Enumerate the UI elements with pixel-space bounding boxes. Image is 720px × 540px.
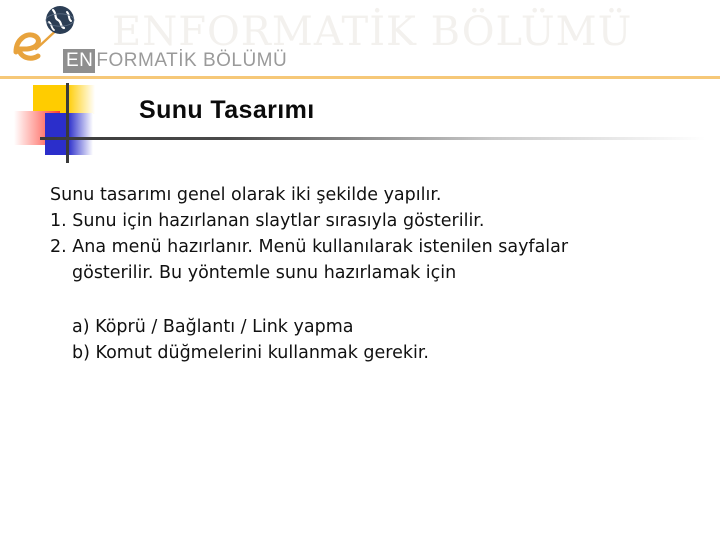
slide-body: Sunu tasarımı genel olarak iki şekilde y… — [50, 182, 690, 366]
body-line: 2. Ana menü hazırlanır. Menü kullanılara… — [50, 234, 690, 260]
header-divider-rule — [0, 76, 720, 79]
department-name-rest: FORMATİK BÖLÜMÜ — [95, 50, 287, 72]
globe-icon — [46, 6, 74, 34]
slide-canvas: ENFORMATİK BÖLÜMÜ ENFORMATİK BÖL — [0, 0, 720, 540]
slide-header: ENFORMATİK BÖLÜMÜ ENFORMATİK BÖL — [0, 0, 720, 78]
body-sub-line: b) Komut düğmelerini kullanmak gerekir. — [50, 340, 690, 366]
body-line: 1. Sunu için hazırlanan slaytlar sırasıy… — [50, 208, 690, 234]
deco-blue-square — [45, 113, 93, 155]
body-line: Sunu tasarımı genel olarak iki şekilde y… — [50, 182, 690, 208]
department-badge: EN — [63, 49, 95, 73]
deco-vertical-line — [66, 83, 69, 163]
department-name: ENFORMATİK BÖLÜMÜ — [63, 49, 287, 71]
body-spacer — [50, 286, 690, 314]
deco-horizontal-line — [40, 137, 705, 140]
slide-title: Sunu Tasarımı — [139, 96, 315, 125]
body-sub-line: a) Köprü / Bağlantı / Link yapma — [50, 314, 690, 340]
body-line: gösterilir. Bu yöntemle sunu hazırlamak … — [50, 260, 690, 286]
deco-yellow-square — [33, 85, 95, 114]
